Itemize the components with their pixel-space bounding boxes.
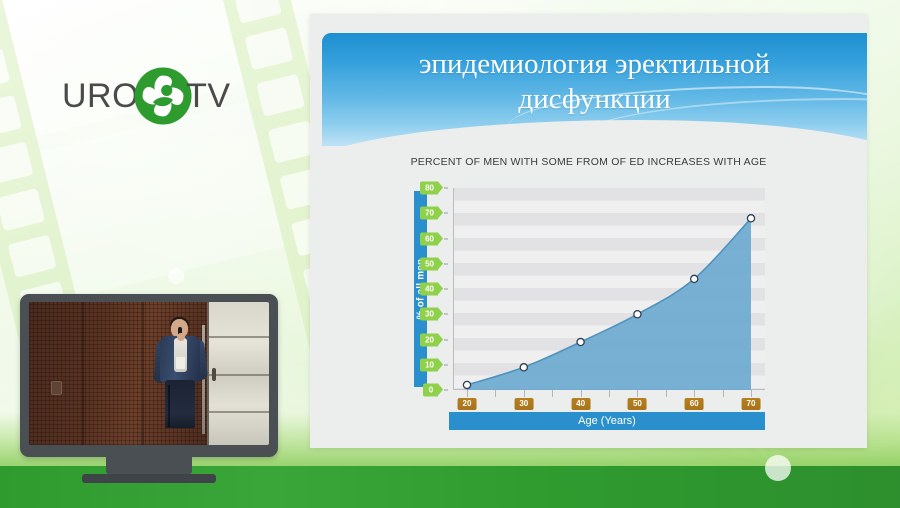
data-point-marker [463, 381, 470, 388]
y-axis-tick-dash [444, 339, 448, 340]
data-point-marker [634, 311, 641, 318]
x-axis-tick-mark [524, 390, 525, 397]
data-point-marker [747, 215, 754, 222]
x-axis-caption-bar: Age (Years) [449, 412, 765, 430]
y-axis-tick-dash [444, 213, 448, 214]
speaker-badge [176, 357, 185, 369]
slide-header-banner: эпидемиология эректильной дисфункции [322, 33, 867, 146]
y-axis-tick: 80 [420, 182, 448, 195]
background-dot-small [168, 268, 184, 284]
scene-wall-seam [142, 302, 144, 445]
y-axis-tick: 60 [420, 232, 448, 245]
y-axis-tick-dash [444, 263, 448, 264]
monitor-neck [106, 457, 192, 474]
speaker-hand [177, 333, 185, 341]
logo-text-tv: TV [186, 77, 230, 116]
scene-door-line [209, 411, 269, 413]
plot-area: 01020304050607080 203040506070 [453, 188, 765, 390]
y-axis-tick: 0 [423, 384, 448, 397]
y-axis-tick-label: 70 [420, 207, 438, 220]
y-axis-tick-dash [444, 238, 448, 239]
ed-prevalence-chart: % of all men 01020304050607080 203040506… [405, 174, 775, 436]
background-dot [765, 455, 791, 481]
x-axis-tick-mark [723, 390, 724, 397]
urotv-logo: URO TV [62, 60, 231, 132]
y-axis-tick-dash [444, 364, 448, 365]
y-axis-tick-label: 80 [420, 182, 438, 195]
y-axis-tick-label: 0 [423, 384, 438, 397]
y-axis-tick: 30 [420, 308, 448, 321]
y-axis-tick-label: 50 [420, 257, 438, 270]
x-axis-tick-mark [467, 390, 468, 397]
x-axis-tick-mark [552, 390, 553, 397]
y-axis-tick-label: 10 [420, 358, 438, 371]
x-axis-tick-mark [581, 390, 582, 397]
scene-door-line [209, 336, 269, 338]
y-axis-tick-label: 30 [420, 308, 438, 321]
x-axis-tick-mark [637, 390, 638, 397]
y-axis-tick: 20 [420, 333, 448, 346]
uro-swirl-emblem-icon [132, 65, 194, 127]
scene-wall-seam [82, 302, 84, 445]
x-axis-label: Age (Years) [578, 415, 636, 427]
y-axis-tick-dash [444, 289, 448, 290]
speaker-figure [154, 319, 210, 439]
video-screen[interactable] [29, 302, 269, 445]
monitor-bezel [20, 294, 278, 457]
x-axis-tick-mark [751, 390, 752, 397]
speaker-leg-gap [168, 385, 170, 427]
scene-door-handle [212, 368, 216, 381]
data-point-marker [520, 364, 527, 371]
x-axis-tick-label: 20 [458, 398, 477, 410]
x-axis-tick-mark [694, 390, 695, 397]
y-axis-tick: 70 [420, 207, 448, 220]
y-axis-tick-dash [444, 314, 448, 315]
x-axis-tick-label: 60 [685, 398, 704, 410]
y-axis-tick-label: 60 [420, 232, 438, 245]
x-axis-tick-mark [495, 390, 496, 397]
x-axis-tick-mark [666, 390, 667, 397]
monitor-base [82, 474, 216, 483]
chart-title: PERCENT OF MEN WITH SOME FROM OF ED INCR… [310, 156, 867, 168]
screenshot-root: URO TV [0, 0, 900, 508]
y-axis-tick-dash [444, 188, 448, 189]
logo-text-uro: URO [62, 77, 139, 116]
x-axis-tick-label: 40 [571, 398, 590, 410]
y-axis-tick-dash [444, 390, 448, 391]
y-axis-tick: 40 [420, 283, 448, 296]
y-axis-tick-label: 20 [420, 333, 438, 346]
slide-title: эпидемиология эректильной дисфункции [322, 33, 867, 118]
y-axis-tick: 10 [420, 358, 448, 371]
presentation-slide: эпидемиология эректильной дисфункции PER… [310, 14, 867, 448]
x-axis-tick-label: 50 [628, 398, 647, 410]
x-axis-tick-label: 70 [742, 398, 761, 410]
x-axis-tick-label: 30 [514, 398, 533, 410]
x-axis-tick-mark [609, 390, 610, 397]
data-point-marker [691, 275, 698, 282]
presentation-monitor[interactable] [20, 294, 278, 483]
y-axis-tick-label: 40 [420, 283, 438, 296]
data-point-marker [577, 338, 584, 345]
data-point-markers [453, 188, 765, 390]
y-axis-tick: 50 [420, 257, 448, 270]
scene-door-line [209, 374, 269, 376]
scene-wall-plate [51, 381, 62, 395]
x-axis-tick-marks [453, 390, 765, 397]
